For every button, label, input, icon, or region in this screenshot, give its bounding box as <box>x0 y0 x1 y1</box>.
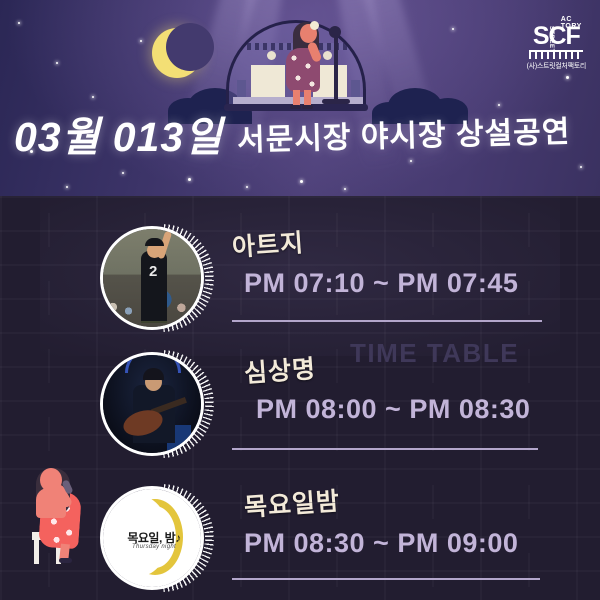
thursday-night-logo: 목요일, 밤♪ Thursday night <box>103 489 201 587</box>
logo-korean-text: (사)스트릿컬처팩토리 <box>527 61 586 71</box>
scf-logo: SCF STREET ACTORY (사)스트릿컬처팩토리 <box>527 24 586 71</box>
timetable-row: 2 아트지 PM 07:10 ~ PM 07:45 <box>0 222 600 344</box>
star-icon <box>140 40 142 42</box>
star-icon <box>56 62 58 64</box>
star-icon <box>344 188 346 190</box>
avatar <box>100 352 204 456</box>
row-divider <box>232 320 542 322</box>
avatar: 목요일, 밤♪ Thursday night <box>100 486 204 590</box>
star-icon <box>18 22 20 24</box>
performer-name: 심상명 <box>243 349 317 390</box>
avatar: 2 <box>100 226 204 330</box>
seated-singer-illustration <box>26 462 92 562</box>
star-icon <box>66 186 68 188</box>
performance-time: PM 07:10 ~ PM 07:45 <box>232 268 562 299</box>
title-date: 03월 013일 <box>14 103 223 163</box>
logo-actory-text: ACTORY <box>561 16 582 31</box>
poster-title: 03월 013일 서문시장 야시장 상설공연 <box>0 104 600 162</box>
star-icon <box>188 178 191 181</box>
logo-english-text: Thursday night <box>112 544 196 550</box>
performance-time: PM 08:00 ~ PM 08:30 <box>232 394 562 425</box>
star-icon <box>300 180 303 183</box>
performer-name: 아트지 <box>231 223 305 264</box>
star-icon <box>452 28 454 30</box>
crescent-moon-icon <box>152 28 202 78</box>
logo-street-text: STREET <box>548 26 554 53</box>
star-icon <box>246 186 248 188</box>
singer-with-mic-illustration <box>280 20 332 110</box>
star-icon <box>92 96 94 98</box>
guitarist-photo <box>103 355 201 453</box>
title-subtitle: 서문시장 야시장 상설공연 <box>236 107 570 160</box>
performer-name: 목요일밤 <box>243 481 341 524</box>
event-poster: SCF STREET ACTORY (사)스트릿컬처팩토리 03월 013일 서… <box>0 0 600 600</box>
mic-stand-icon <box>334 32 338 102</box>
star-icon <box>580 166 582 168</box>
street-dancer-photo: 2 <box>103 229 201 327</box>
star-icon <box>122 172 124 174</box>
star-icon <box>566 76 569 79</box>
row-divider <box>232 578 540 580</box>
performance-time: PM 08:30 ~ PM 09:00 <box>232 528 562 559</box>
row-divider <box>232 448 538 450</box>
poster-header: SCF STREET ACTORY (사)스트릿컬처팩토리 03월 013일 서… <box>0 0 600 196</box>
timetable-row: 심상명 PM 08:00 ~ PM 08:30 <box>0 348 600 470</box>
logo-wave-icon <box>529 50 583 59</box>
